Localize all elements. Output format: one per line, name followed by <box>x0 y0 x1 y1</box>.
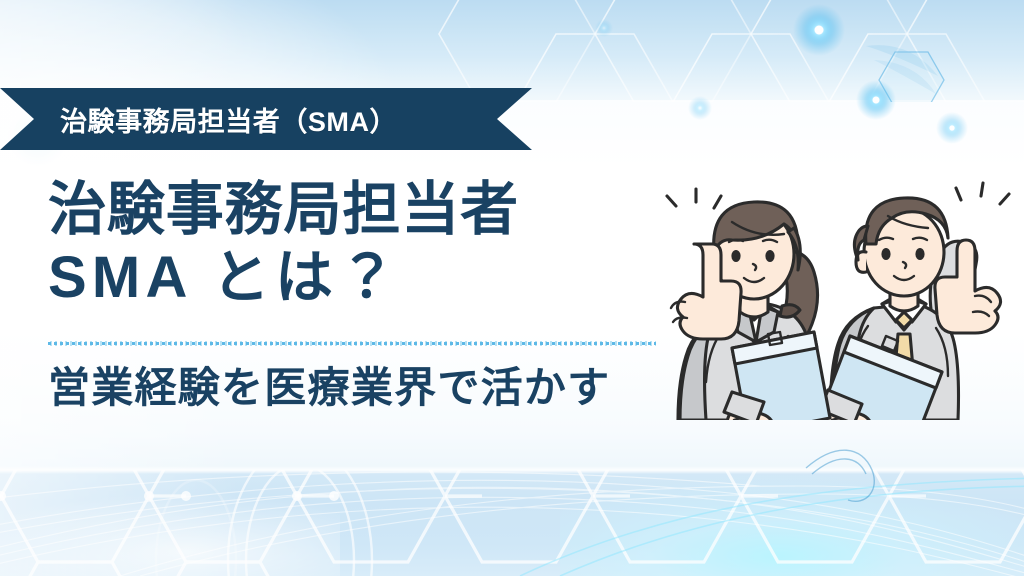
people-illustration-svg: .ol { stroke:#2b2b2b; stroke-width:3.1; … <box>636 156 1024 456</box>
cyan-wave-arcs <box>520 478 1024 576</box>
hexagon-nodes-bottom <box>0 491 339 576</box>
figure-man <box>820 183 1009 452</box>
people-illustration: .ol { stroke:#2b2b2b; stroke-width:3.1; … <box>636 156 1024 456</box>
background-bottom-glow-left <box>0 492 340 576</box>
ribbon-label: 治験事務局担当者（SMA） <box>60 88 397 150</box>
hexagon-accent-top <box>866 45 944 108</box>
slide-canvas: 治験事務局担当者（SMA） 治験事務局担当者 SMA とは？ 営業経験を医療業界… <box>0 0 1024 576</box>
background-bottom-band <box>0 470 1024 576</box>
background-band-seam <box>0 466 1024 474</box>
man-emphasis-marks <box>956 183 1009 204</box>
wave-rings-bottom <box>156 444 372 576</box>
figure-woman <box>667 189 830 452</box>
page-title-line-2: SMA とは？ <box>48 244 688 312</box>
eyebrow-ribbon: 治験事務局担当者（SMA） <box>0 88 532 150</box>
blue-swirl-accent <box>806 450 874 501</box>
title-divider <box>48 341 656 346</box>
hexagon-connectors-bottom <box>0 496 926 576</box>
page-title: 治験事務局担当者 SMA とは？ <box>48 176 688 313</box>
flowing-wave-lines <box>0 472 1024 576</box>
woman-emphasis-marks <box>667 189 721 208</box>
page-title-line-1: 治験事務局担当者 <box>48 176 688 244</box>
divider-rule <box>48 341 656 346</box>
background-bottom-glow <box>560 470 1024 576</box>
